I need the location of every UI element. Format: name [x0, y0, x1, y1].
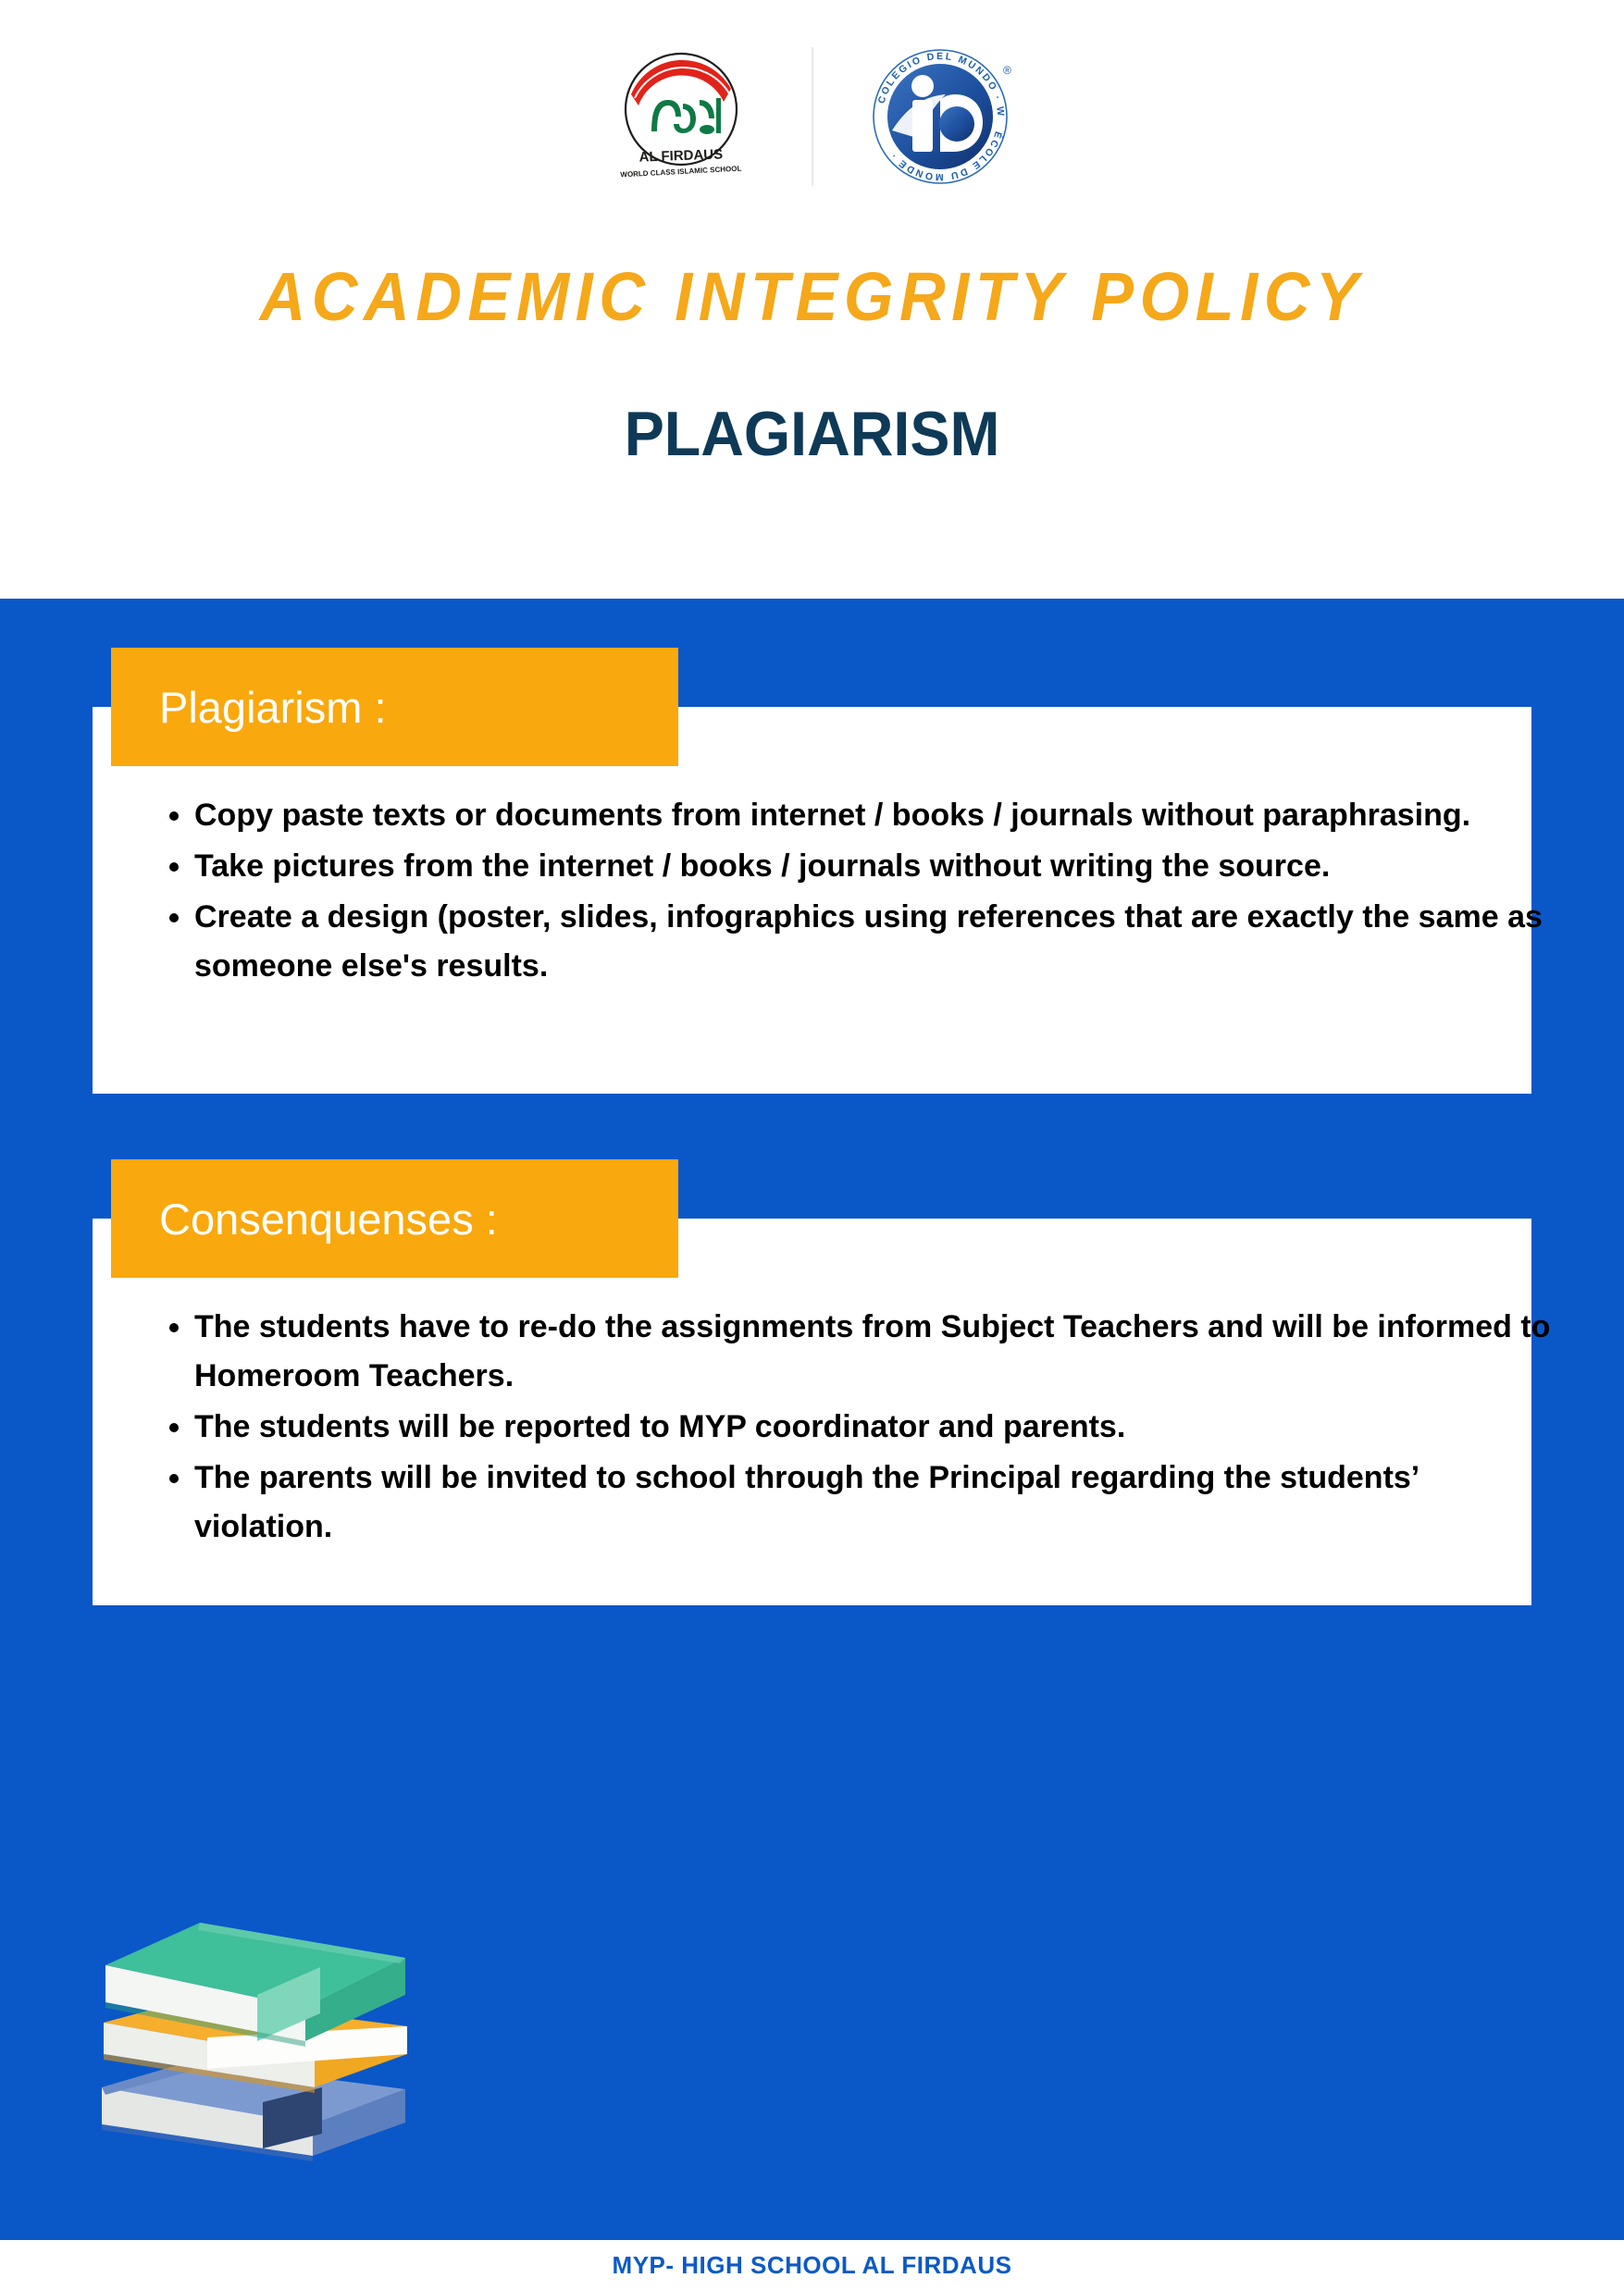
- logo-divider: [812, 47, 813, 186]
- al-firdaus-logo: AL FIRDAUS WORLD CLASS ISLAMIC SCHOOL: [596, 44, 767, 188]
- al-firdaus-logo-svg: AL FIRDAUS WORLD CLASS ISLAMIC SCHOOL: [598, 43, 764, 191]
- plagiarism-bullet-list: Copy paste texts or documents from inter…: [143, 791, 1555, 993]
- list-item: The students will be reported to MYP coo…: [194, 1403, 1555, 1452]
- list-item: Create a design (poster, slides, infogra…: [194, 893, 1555, 991]
- stack-of-books-illustration: [81, 1906, 424, 2165]
- svg-text:AL FIRDAUS: AL FIRDAUS: [638, 146, 723, 165]
- consequences-bullet-list: The students have to re-do the assignmen…: [143, 1303, 1555, 1553]
- list-item: Take pictures from the internet / books …: [194, 842, 1555, 891]
- poster-page: AL FIRDAUS WORLD CLASS ISLAMIC SCHOOL: [0, 0, 1624, 2290]
- plagiarism-tag-label: Plagiarism :: [111, 682, 387, 733]
- list-item: Copy paste texts or documents from inter…: [194, 791, 1555, 840]
- page-footer: MYP- HIGH SCHOOL AL FIRDAUS: [0, 2240, 1624, 2290]
- footer-label: MYP- HIGH SCHOOL AL FIRDAUS: [613, 2251, 1012, 2280]
- list-item: The parents will be invited to school th…: [194, 1454, 1555, 1552]
- page-title: ACADEMIC INTEGRITY POLICY: [56, 257, 1567, 336]
- logo-bar: AL FIRDAUS WORLD CLASS ISLAMIC SCHOOL: [0, 44, 1624, 188]
- consequences-tag-label: Consenquenses :: [111, 1194, 498, 1244]
- plagiarism-section-tag: Plagiarism :: [111, 648, 678, 766]
- consequences-section-tag: Consenquenses :: [111, 1159, 678, 1278]
- list-item: The students have to re-do the assignmen…: [194, 1303, 1555, 1401]
- ib-world-school-logo: COLEGIO DEL MUNDO · WORLD SCHOOL ÉCOLE D…: [858, 44, 1029, 188]
- ib-world-school-logo-svg: COLEGIO DEL MUNDO · WORLD SCHOOL ÉCOLE D…: [864, 43, 1022, 191]
- page-subtitle: PLAGIARISM: [41, 398, 1583, 470]
- svg-text:WORLD CLASS ISLAMIC SCHOOL: WORLD CLASS ISLAMIC SCHOOL: [620, 164, 742, 179]
- svg-text:®: ®: [1003, 64, 1011, 77]
- books-icon: [81, 1906, 424, 2165]
